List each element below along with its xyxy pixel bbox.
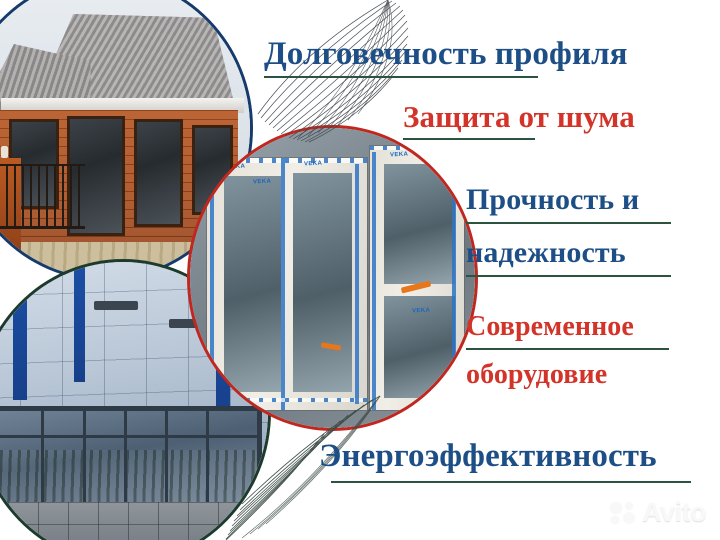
slogan-rule-noise: [403, 138, 535, 140]
slogan-energy: Энергоэффективность: [319, 440, 657, 473]
slogan-noise: Защита от шума: [403, 101, 635, 132]
avito-watermark: Avito: [608, 497, 706, 528]
veka-brand-label: VEKA: [253, 179, 272, 186]
slogan-rule-energy: [331, 481, 691, 483]
avito-wordmark: Avito: [642, 497, 706, 528]
slogan-strength: Прочность и: [466, 185, 639, 215]
veka-brand-label: VEKA: [389, 152, 408, 159]
slogan-reliability: надежность: [466, 238, 626, 268]
veka-brand-label: VEKA: [412, 308, 431, 315]
veka-brand-label: VEKA: [227, 164, 246, 171]
veka-brand-label: VEKA: [304, 161, 323, 168]
slogan-equipment: оборудовие: [466, 361, 607, 389]
slogan-rule-reliability: [466, 275, 671, 277]
slogan-rule-durability: [264, 76, 538, 78]
veka-windows-image: VEKA VEKA VEKA VEKA VEKA: [190, 128, 475, 428]
slogan-modern: Современное: [466, 313, 634, 341]
advertisement-poster: VEKA VEKA VEKA VEKA VEKA Долговечность п…: [0, 0, 720, 540]
slogan-rule-modern: [466, 348, 669, 350]
photo-circle-veka-windows: VEKA VEKA VEKA VEKA VEKA: [190, 128, 475, 428]
slogan-durability: Долговечность профиля: [264, 38, 628, 71]
avito-dots-icon: [608, 500, 638, 526]
slogan-rule-strength: [466, 222, 671, 224]
